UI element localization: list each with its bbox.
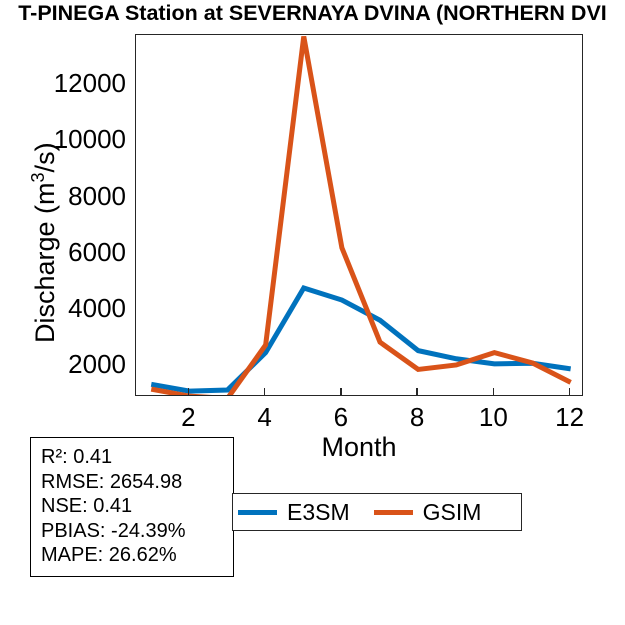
y-tick-label: 10000 — [54, 126, 126, 152]
x-tick-label: 8 — [410, 404, 424, 430]
statistics-box: R²: 0.41 RMSE: 2654.98 NSE: 0.41 PBIAS: … — [30, 437, 234, 577]
y-tick-label: 2000 — [68, 351, 126, 377]
stat-mape: MAPE: 26.62% — [41, 543, 225, 568]
series-line-gsim — [151, 36, 570, 395]
stat-r2: R²: 0.41 — [41, 445, 225, 470]
stat-rmse: RMSE: 2654.98 — [41, 470, 225, 495]
x-tick-mark — [416, 388, 417, 396]
y-axis-label-prefix: Discharge (m — [30, 182, 60, 343]
legend-entry-e3sm[interactable]: E3SM — [238, 501, 350, 524]
legend-label-e3sm: E3SM — [287, 501, 350, 524]
stat-nse: NSE: 0.41 — [41, 494, 225, 519]
plot-area — [136, 35, 582, 395]
x-tick-label: 6 — [334, 404, 348, 430]
legend-label-gsim: GSIM — [423, 501, 482, 524]
legend-entry-gsim[interactable]: GSIM — [374, 501, 482, 524]
y-axis-label: Discharge (m3/s) — [30, 142, 61, 343]
x-tick-label: 4 — [257, 404, 271, 430]
x-tick-label: 12 — [555, 404, 584, 430]
y-tick-label: 8000 — [68, 183, 126, 209]
legend-swatch-gsim — [374, 510, 413, 515]
series-svg — [136, 35, 582, 395]
chart-figure: T-PINEGA Station at SEVERNAYA DVINA (NOR… — [0, 0, 625, 625]
x-axis-label: Month — [321, 432, 396, 463]
x-tick-label: 2 — [181, 404, 195, 430]
x-tick-mark — [493, 388, 494, 396]
y-axis-label-exponent: 3 — [28, 172, 48, 182]
chart-legend[interactable]: E3SM GSIM — [232, 493, 522, 531]
x-tick-label: 10 — [479, 404, 508, 430]
x-tick-mark — [340, 388, 341, 396]
series-line-e3sm — [151, 288, 570, 391]
y-tick-label: 12000 — [54, 70, 126, 96]
y-tick-label: 6000 — [68, 239, 126, 265]
x-tick-mark — [569, 388, 570, 396]
chart-title: T-PINEGA Station at SEVERNAYA DVINA (NOR… — [18, 0, 607, 28]
legend-swatch-e3sm — [238, 510, 277, 515]
x-tick-mark — [264, 388, 265, 396]
x-tick-mark — [188, 388, 189, 396]
stat-pbias: PBIAS: -24.39% — [41, 519, 225, 544]
plot-axes-box — [135, 34, 583, 396]
y-tick-label: 4000 — [68, 295, 126, 321]
